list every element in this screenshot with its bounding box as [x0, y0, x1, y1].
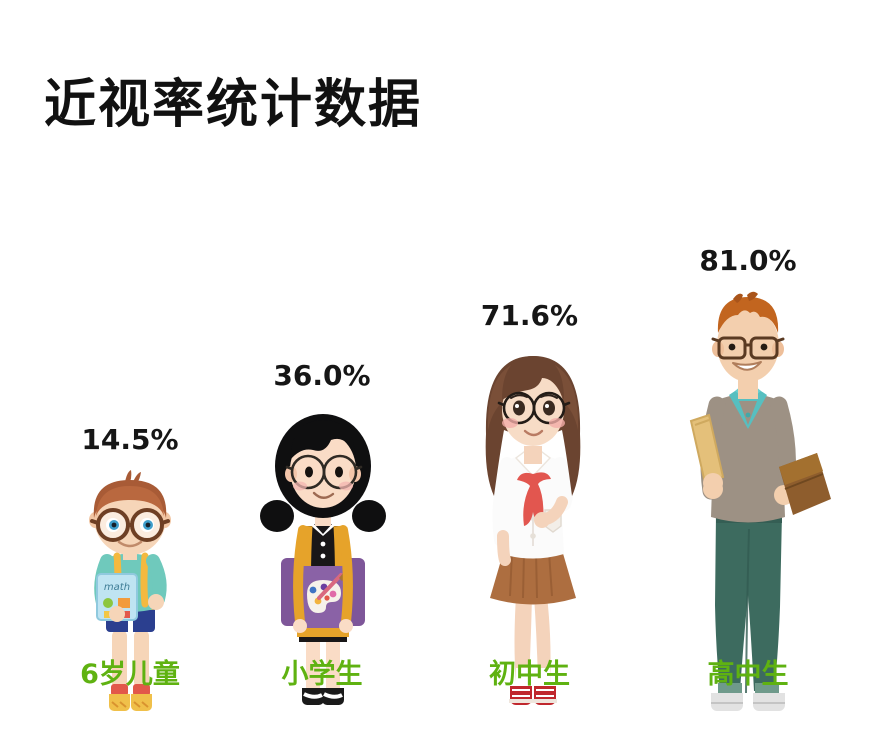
value-label-middle-student: 71.6%	[481, 302, 578, 330]
value-label-high-student: 81.0%	[699, 247, 796, 275]
category-label-child-6yo: 6岁儿童	[40, 661, 220, 688]
svg-text:math: math	[104, 582, 130, 593]
value-label-child-6yo: 14.5%	[81, 426, 178, 454]
page-title: 近视率统计数据	[44, 62, 422, 137]
category-label-middle-student: 初中生	[437, 661, 622, 688]
category-label-row: 6岁儿童 小学生 初中生 高中生	[0, 655, 890, 705]
infographic-page: 近视率统计数据 14.5%	[0, 0, 890, 730]
category-label-high-student: 高中生	[648, 661, 848, 688]
category-label-primary-student: 小学生	[232, 661, 412, 688]
value-label-primary-student: 36.0%	[273, 362, 370, 390]
pictograph-chart: 14.5%	[0, 170, 890, 730]
